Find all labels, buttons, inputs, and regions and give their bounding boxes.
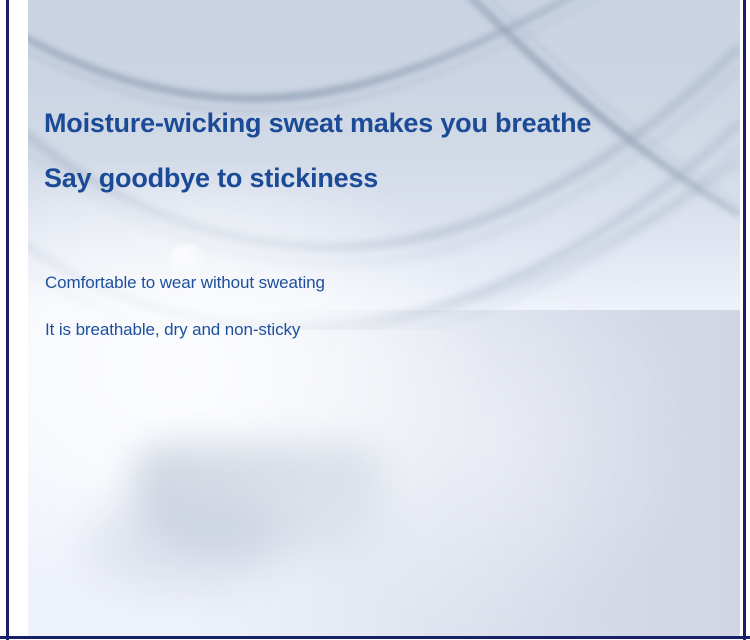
banner-copy: Moisture-wicking sweat makes you breathe…	[44, 0, 734, 636]
banner-photo: Moisture-wicking sweat makes you breathe…	[28, 0, 740, 636]
headline-line-2: Say goodbye to stickiness	[44, 163, 704, 194]
frame-border-right	[743, 0, 746, 640]
headline-line-1: Moisture-wicking sweat makes you breathe	[44, 108, 704, 139]
frame-border-bottom	[0, 636, 750, 639]
product-feature-banner: Moisture-wicking sweat makes you breathe…	[0, 0, 750, 640]
frame-border-left	[6, 0, 9, 640]
subtext-line-2: It is breathable, dry and non-sticky	[45, 320, 665, 340]
subtext-line-1: Comfortable to wear without sweating	[45, 273, 665, 293]
